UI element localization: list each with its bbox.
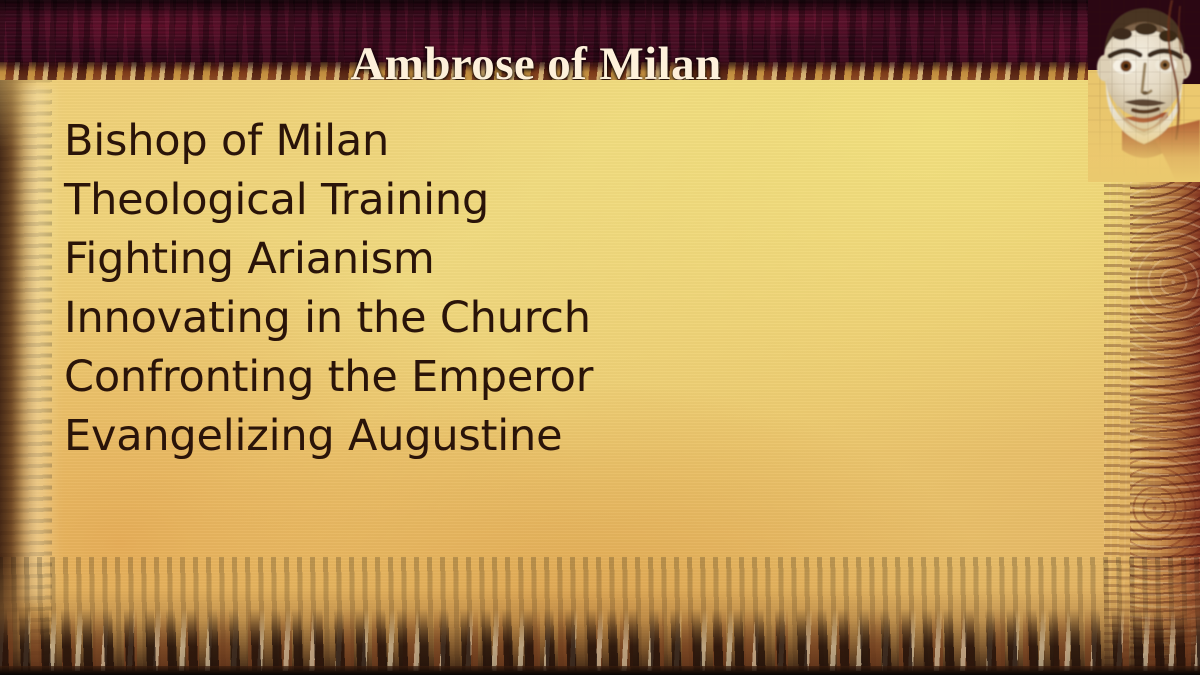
list-item: Evangelizing Augustine bbox=[64, 407, 1044, 466]
portrait-bottom-fade bbox=[1088, 112, 1200, 182]
list-item: Bishop of Milan bbox=[64, 112, 1044, 171]
slide-body-panel: Bishop of Milan Theological Training Fig… bbox=[0, 80, 1200, 675]
bottom-border-crust bbox=[0, 609, 1200, 671]
left-border-highlight bbox=[16, 84, 58, 604]
list-item: Confronting the Emperor bbox=[64, 348, 1044, 407]
slide-content-list: Bishop of Milan Theological Training Fig… bbox=[64, 112, 1044, 466]
presentation-slide: Ambrose of Milan Bishop of Milan Theolog… bbox=[0, 0, 1200, 675]
list-item: Theological Training bbox=[64, 171, 1044, 230]
ambrose-mosaic-portrait-icon bbox=[1088, 0, 1200, 182]
list-item: Innovating in the Church bbox=[64, 289, 1044, 348]
list-item: Fighting Arianism bbox=[64, 230, 1044, 289]
bottom-border-line bbox=[0, 666, 1200, 675]
